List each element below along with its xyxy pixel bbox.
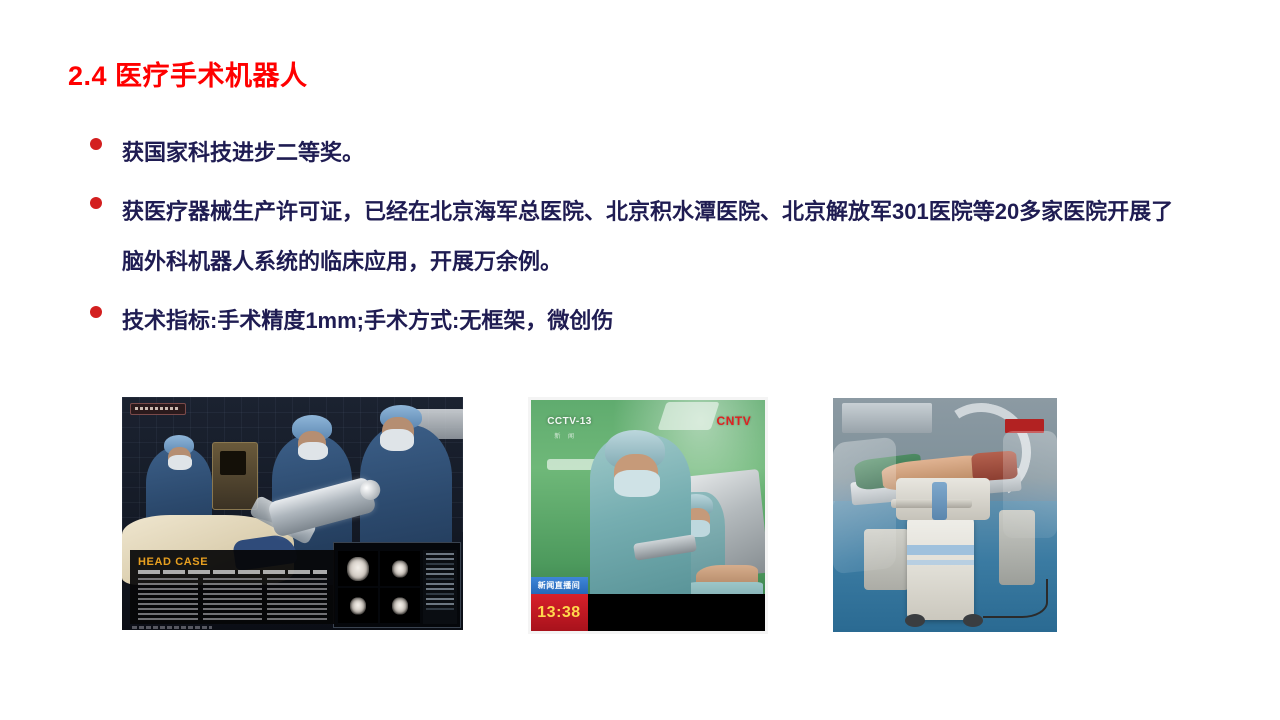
- ct-scan-slice: [338, 551, 378, 586]
- list-item: 技术指标:手术精度1mm;手术方式:无框架，微创伤: [90, 296, 1180, 346]
- ct-scan-slice: [380, 551, 420, 586]
- list-item: 获医疗器械生产许可证，已经在北京海军总医院、北京积水潭医院、北京解放军301医院…: [90, 187, 1180, 287]
- magazine-caption-block: HEAD CASE: [130, 550, 335, 624]
- ct-scan-slice: [338, 588, 378, 623]
- ct-viewer-monitor: [333, 542, 461, 628]
- ct-scan-grid: [338, 551, 420, 623]
- bullet-dot-icon: [90, 306, 102, 318]
- bullet-dot-icon: [90, 138, 102, 150]
- list-item: 获国家科技进步二等奖。: [90, 128, 1180, 178]
- power-cable: [983, 579, 1048, 618]
- surgical-mask: [168, 455, 192, 470]
- photo-border: [528, 397, 768, 634]
- bullet-text: 获国家科技进步二等奖。: [122, 128, 1180, 178]
- surgical-robot-cart: [907, 513, 974, 621]
- ct-scan-slice: [380, 588, 420, 623]
- caption-title: HEAD CASE: [138, 556, 327, 568]
- bullet-list: 获国家科技进步二等奖。 获医疗器械生产许可证，已经在北京海军总医院、北京积水潭医…: [90, 128, 1180, 355]
- photo-cctv-news: CCTV-13 新 闻 CNTV 新闻直播间 13:38: [528, 397, 768, 634]
- surgical-mask: [380, 429, 414, 451]
- cart-column: [932, 482, 948, 519]
- photo-robot-cart: [833, 398, 1057, 632]
- bullet-text: 获医疗器械生产许可证，已经在北京海军总医院、北京积水潭医院、北京解放军301医院…: [122, 187, 1180, 287]
- caption-body-columns: [138, 578, 327, 622]
- magazine-tag: [130, 403, 186, 415]
- or-equipment-cabinet: [212, 442, 258, 510]
- cart-stripe: [907, 560, 974, 565]
- sterile-plastic-cover: [1003, 431, 1057, 539]
- sterile-plastic-cover: [833, 437, 896, 575]
- bullet-text: 技术指标:手术精度1mm;手术方式:无框架，微创伤: [122, 296, 1180, 346]
- caption-column: [138, 578, 198, 622]
- photo-surgery-team: HEAD CASE: [122, 397, 463, 630]
- caption-column: [203, 578, 263, 622]
- caption-column: [267, 578, 327, 622]
- photo-row: HEAD CASE CCTV-13 新 闻 CNTV: [0, 397, 1280, 637]
- magazine-footer-line: [132, 626, 212, 629]
- ct-readout-panel: [423, 550, 457, 624]
- caption-lede-text: [138, 570, 327, 574]
- surgical-mask: [298, 442, 328, 460]
- page-title: 2.4 医疗手术机器人: [68, 54, 308, 93]
- ceiling-fixture: [842, 403, 932, 433]
- cart-stripe: [907, 545, 974, 555]
- bullet-dot-icon: [90, 197, 102, 209]
